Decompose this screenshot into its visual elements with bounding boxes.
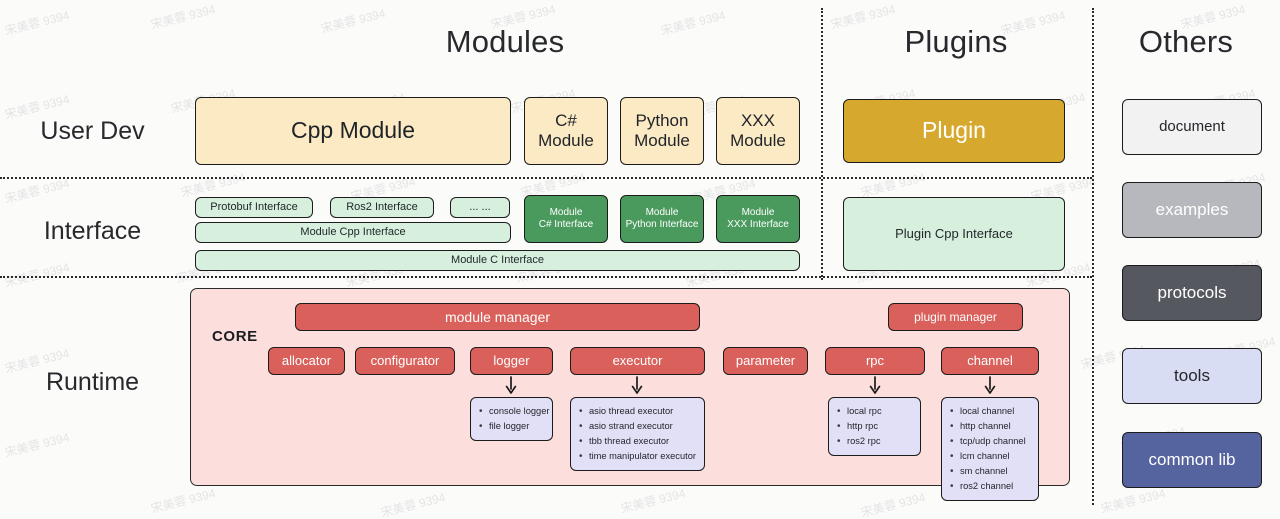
separator-interface-runtime <box>0 276 1092 278</box>
interface-module-cpp[interactable]: Module Cpp Interface <box>195 222 511 243</box>
others-tools[interactable]: tools <box>1122 348 1262 404</box>
list-item: http channel <box>960 419 1030 434</box>
interface-protobuf[interactable]: Protobuf Interface <box>195 197 313 218</box>
module-box-cpp[interactable]: Cpp Module <box>195 97 511 165</box>
arrow-down-icon-rpc <box>868 376 882 396</box>
others-document[interactable]: document <box>1122 99 1262 155</box>
core-plugin-manager[interactable]: plugin manager <box>888 303 1023 331</box>
separator-plugins-others <box>1092 8 1094 505</box>
list-item: local rpc <box>847 404 912 419</box>
core-label: CORE <box>212 328 258 345</box>
core-component-executor[interactable]: executor <box>570 347 705 375</box>
list-item: asio strand executor <box>589 419 696 434</box>
core-module-manager[interactable]: module manager <box>295 303 700 331</box>
list-item: lcm channel <box>960 449 1030 464</box>
watermark: 宋美蓉 9394 <box>3 174 71 206</box>
watermark: 宋美蓉 9394 <box>179 168 247 200</box>
watermark: 宋美蓉 9394 <box>1099 484 1167 516</box>
architecture-diagram: 宋美蓉 9394 宋美蓉 9394 宋美蓉 9394 宋美蓉 9394 宋美蓉 … <box>0 0 1280 519</box>
arrow-down-icon-logger <box>504 376 518 396</box>
list-item: time manipulator executor <box>589 449 696 464</box>
list-item: local channel <box>960 404 1030 419</box>
watermark: 宋美蓉 9394 <box>859 488 927 519</box>
interface-module-python[interactable]: Module Python Interface <box>620 195 704 243</box>
core-sublist-rpc: local rpchttp rpcros2 rpc <box>828 397 921 456</box>
others-protocols[interactable]: protocols <box>1122 265 1262 321</box>
watermark: 宋美蓉 9394 <box>149 484 217 516</box>
core-sublist-executor: asio thread executorasio strand executor… <box>570 397 705 471</box>
row-label-interface: Interface <box>0 217 185 246</box>
core-component-logger[interactable]: logger <box>470 347 553 375</box>
core-sublist-logger: console loggerfile logger <box>470 397 553 441</box>
module-box-csharp[interactable]: C# Module <box>524 97 608 165</box>
interface-ellipsis[interactable]: ... ... <box>450 197 510 218</box>
core-component-channel[interactable]: channel <box>941 347 1039 375</box>
others-examples[interactable]: examples <box>1122 182 1262 238</box>
list-item: tbb thread executor <box>589 434 696 449</box>
interface-ros2[interactable]: Ros2 Interface <box>330 197 434 218</box>
core-sublist-executor-items: asio thread executorasio strand executor… <box>577 404 696 464</box>
list-item: ros2 rpc <box>847 434 912 449</box>
core-component-parameter[interactable]: parameter <box>723 347 808 375</box>
core-sublist-channel-items: local channelhttp channeltcp/udp channel… <box>948 404 1030 494</box>
watermark: 宋美蓉 9394 <box>859 168 927 200</box>
plugin-box[interactable]: Plugin <box>843 99 1065 163</box>
core-component-configurator[interactable]: configurator <box>355 347 455 375</box>
separator-modules-plugins <box>821 8 823 280</box>
module-box-python[interactable]: Python Module <box>620 97 704 165</box>
watermark: 宋美蓉 9394 <box>379 488 447 519</box>
column-title-modules: Modules <box>190 24 820 60</box>
arrow-down-icon-channel <box>983 376 997 396</box>
arrow-down-icon-executor <box>630 376 644 396</box>
list-item: console logger <box>489 404 544 419</box>
watermark: 宋美蓉 9394 <box>619 484 687 516</box>
row-label-user-dev: User Dev <box>0 117 185 146</box>
watermark: 宋美蓉 9394 <box>3 428 71 460</box>
list-item: sm channel <box>960 464 1030 479</box>
separator-userdev-interface <box>0 177 1092 179</box>
interface-module-xxx[interactable]: Module XXX Interface <box>716 195 800 243</box>
core-sublist-logger-items: console loggerfile logger <box>477 404 544 434</box>
core-sublist-rpc-items: local rpchttp rpcros2 rpc <box>835 404 912 449</box>
column-title-others: Others <box>1096 24 1276 60</box>
list-item: file logger <box>489 419 544 434</box>
watermark: 宋美蓉 9394 <box>3 258 71 290</box>
interface-module-csharp[interactable]: Module C# Interface <box>524 195 608 243</box>
others-common-lib[interactable]: common lib <box>1122 432 1262 488</box>
interface-plugin-cpp[interactable]: Plugin Cpp Interface <box>843 197 1065 271</box>
column-title-plugins: Plugins <box>825 24 1087 60</box>
core-sublist-channel: local channelhttp channeltcp/udp channel… <box>941 397 1039 501</box>
list-item: tcp/udp channel <box>960 434 1030 449</box>
core-component-rpc[interactable]: rpc <box>825 347 925 375</box>
module-box-xxx[interactable]: XXX Module <box>716 97 800 165</box>
interface-module-c[interactable]: Module C Interface <box>195 250 800 271</box>
watermark: 宋美蓉 9394 <box>3 6 71 38</box>
list-item: http rpc <box>847 419 912 434</box>
core-component-allocator[interactable]: allocator <box>268 347 345 375</box>
list-item: ros2 channel <box>960 479 1030 494</box>
list-item: asio thread executor <box>589 404 696 419</box>
row-label-runtime: Runtime <box>0 368 185 397</box>
